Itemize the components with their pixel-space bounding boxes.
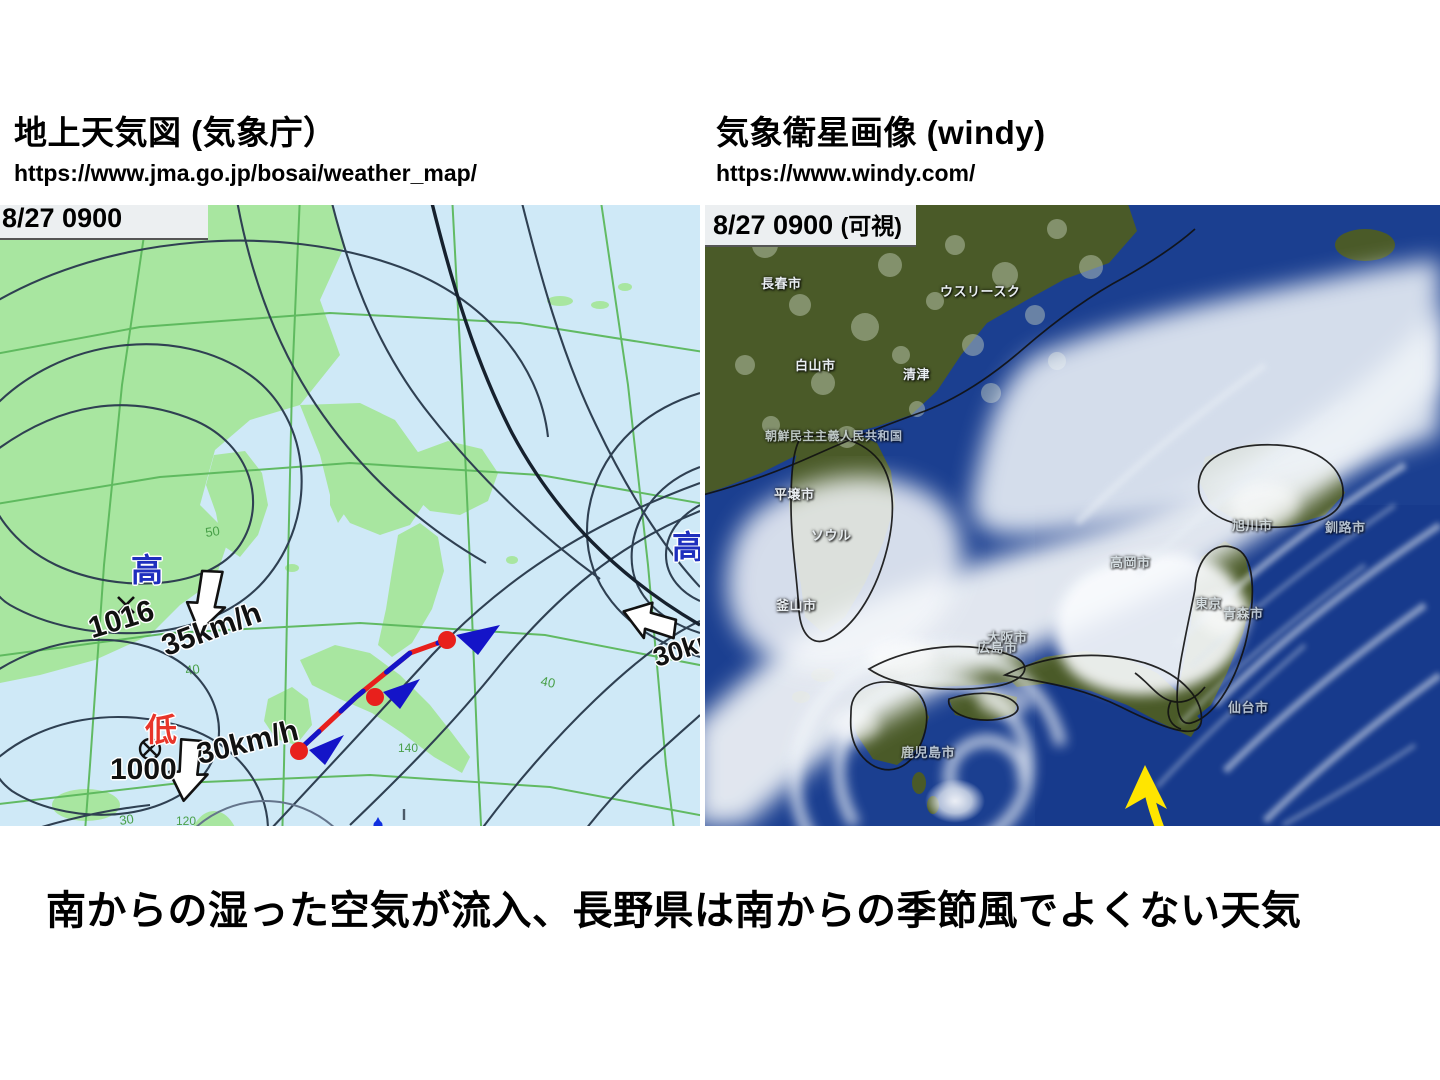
right-timestamp-suffix: (可視) [841, 213, 902, 239]
jma-surface-weather-map[interactable]: 50 40 30 20 40 140 120 [0, 205, 700, 826]
low-pressure-label: 低 [145, 705, 177, 751]
city-label: 青森市 [1223, 603, 1264, 622]
city-label: 白山市 [795, 355, 836, 374]
city-label: 仙台市 [1228, 697, 1269, 716]
svg-text:40: 40 [539, 673, 556, 691]
svg-text:140: 140 [398, 741, 418, 755]
city-label: 長春市 [761, 273, 802, 292]
left-timestamp-text: 8/27 0900 [2, 205, 122, 233]
satellite-graphic [705, 205, 1440, 826]
city-label: 高岡市 [1110, 552, 1151, 571]
svg-text:40: 40 [184, 661, 200, 678]
low-pressure-value: 1000 [110, 753, 177, 787]
right-timestamp-chip: 8/27 0900 (可視) [705, 205, 916, 247]
city-label: 東京 [1195, 593, 1222, 612]
left-timestamp-chip: 8/27 0900 [0, 205, 208, 240]
left-panel-title: 地上天気図 (気象庁） [14, 106, 337, 154]
windy-satellite-image[interactable]: 長春市 ウスリースク 白山市 清津 朝鮮民主主義人民共和国 平壌市 ソウル 釜山… [705, 205, 1440, 826]
city-label: 釧路市 [1325, 517, 1366, 536]
right-timestamp-text: 8/27 0900 [713, 210, 833, 240]
country-label: 朝鮮民主主義人民共和国 [765, 427, 903, 444]
svg-text:50: 50 [204, 523, 220, 540]
city-label: 広島市 [977, 637, 1018, 656]
city-label: 鹿児島市 [901, 742, 955, 761]
right-panel-url: https://www.windy.com/ [716, 160, 975, 187]
svg-text:120: 120 [176, 814, 196, 826]
surface-chart-graphic: 50 40 30 20 40 140 120 [0, 205, 700, 826]
left-panel-url: https://www.jma.go.jp/bosai/weather_map/ [14, 160, 477, 187]
city-label: ウスリースク [940, 281, 1020, 300]
high-pressure-label-east: 高 [672, 522, 700, 568]
right-panel-title: 気象衛星画像 (windy) [716, 106, 1046, 154]
city-label: 釜山市 [776, 595, 817, 614]
high-pressure-label: 高 [131, 545, 163, 591]
slide-root: 地上天気図 (気象庁） https://www.jma.go.jp/bosai/… [0, 0, 1440, 1080]
city-label: ソウル [811, 525, 852, 544]
city-label: 清津 [903, 364, 930, 383]
slide-caption: 南からの湿った空気が流入、長野県は南からの季節風でよくない天気 [46, 878, 1394, 936]
city-label: 旭川市 [1232, 515, 1273, 534]
city-label: 平壌市 [774, 484, 815, 503]
